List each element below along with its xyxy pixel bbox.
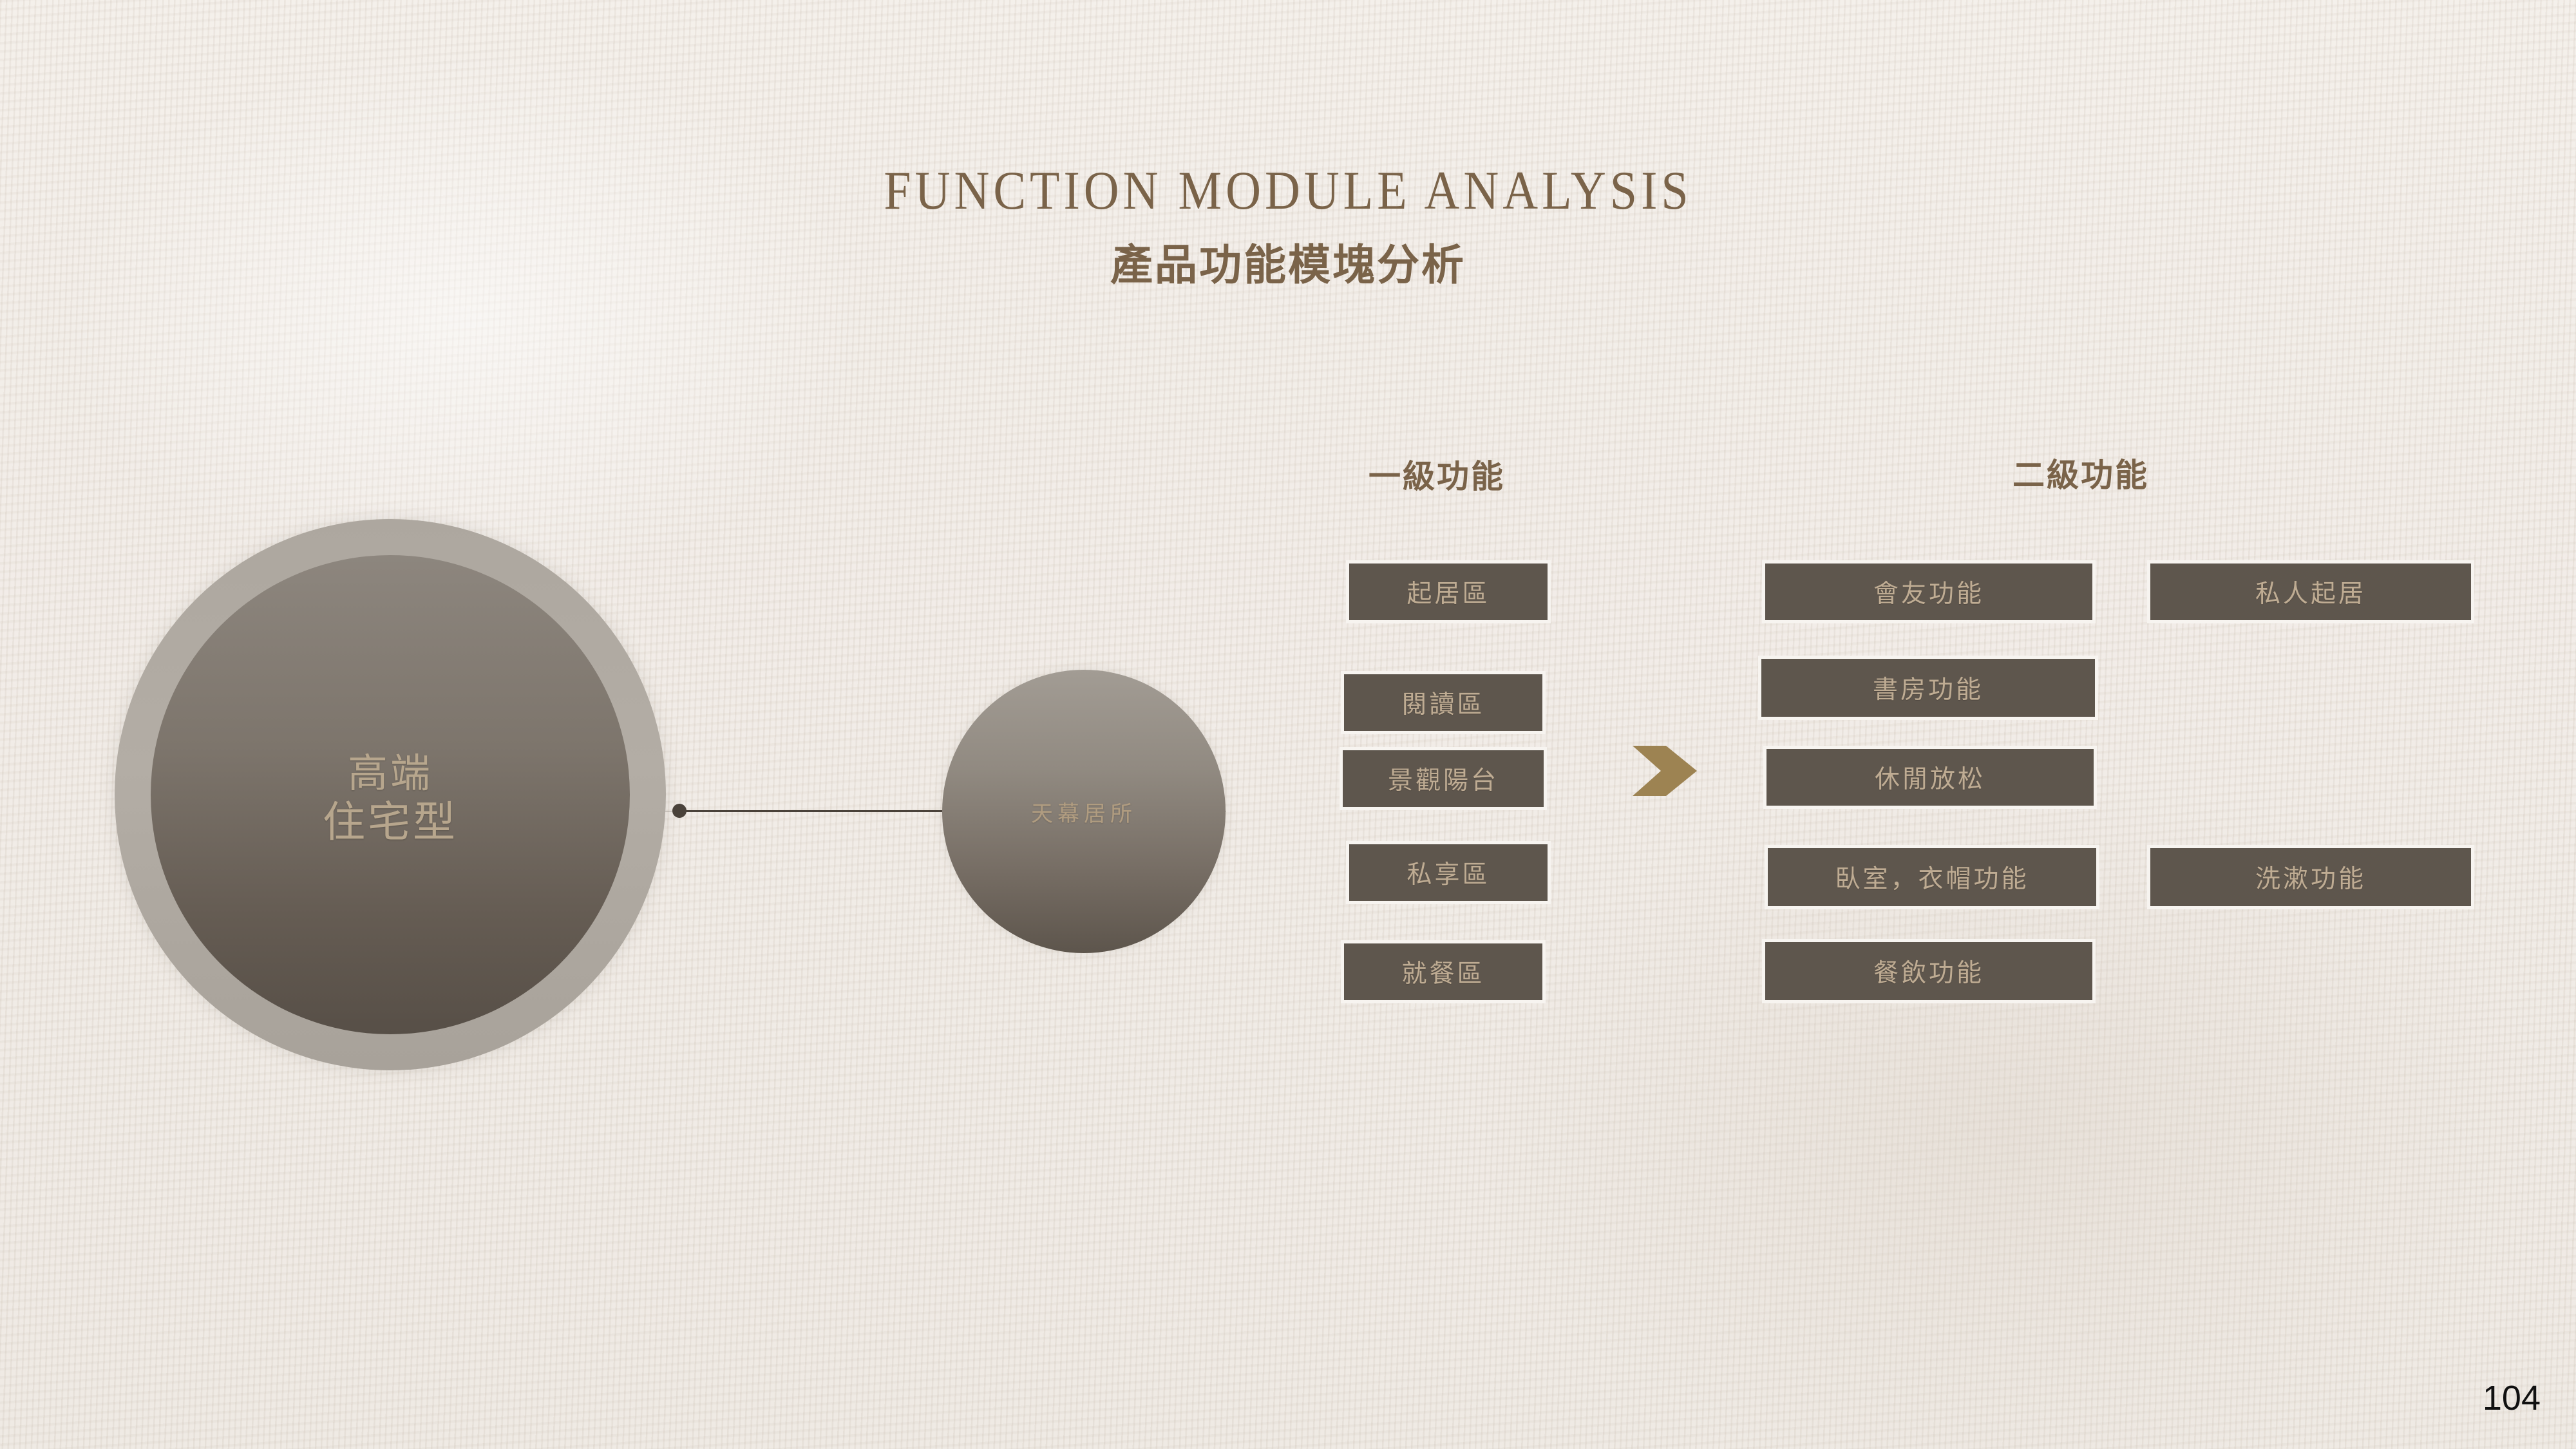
- level2-box-leisure[interactable]: 休閒放松: [1763, 746, 2097, 809]
- primary-circle-label-line2: 住宅型: [323, 797, 458, 848]
- primary-circle-label: 高端 住宅型: [323, 750, 458, 847]
- level2-box-bedroom[interactable]: 臥室，衣帽功能: [1765, 845, 2099, 909]
- secondary-circle: 天幕居所: [942, 670, 1226, 953]
- level1-box-reading[interactable]: 閱讀區: [1341, 671, 1546, 734]
- level2-box-personal-living[interactable]: 私人起居: [2147, 560, 2474, 623]
- primary-circle-label-line1: 高端: [323, 750, 458, 797]
- primary-circle-core: 高端 住宅型: [151, 555, 630, 1034]
- slide-canvas: FUNCTION MODULE ANALYSIS 產品功能模塊分析 高端 住宅型…: [0, 0, 2576, 1449]
- level2-box-catering[interactable]: 餐飲功能: [1762, 939, 2096, 1003]
- chevron-right-icon: [1633, 746, 1697, 796]
- level1-box-balcony[interactable]: 景觀陽台: [1340, 747, 1547, 810]
- connector-line: [676, 810, 953, 812]
- page-title-english: FUNCTION MODULE ANALYSIS: [0, 160, 2576, 222]
- primary-circle-ring: 高端 住宅型: [115, 519, 666, 1070]
- level2-box-social[interactable]: 會友功能: [1762, 560, 2096, 623]
- level1-column-heading: 一級功能: [1368, 451, 1505, 497]
- page-title-chinese: 產品功能模塊分析: [0, 231, 2576, 292]
- level2-box-washing[interactable]: 洗漱功能: [2147, 845, 2474, 909]
- level1-box-private[interactable]: 私享區: [1346, 841, 1551, 904]
- secondary-circle-label: 天幕居所: [1031, 796, 1137, 828]
- level2-box-study[interactable]: 書房功能: [1758, 656, 2098, 720]
- page-number: 104: [2483, 1378, 2541, 1418]
- level2-column-heading: 二級功能: [2012, 450, 2149, 496]
- level1-box-living[interactable]: 起居區: [1346, 560, 1551, 623]
- level1-box-dining[interactable]: 就餐區: [1341, 940, 1546, 1003]
